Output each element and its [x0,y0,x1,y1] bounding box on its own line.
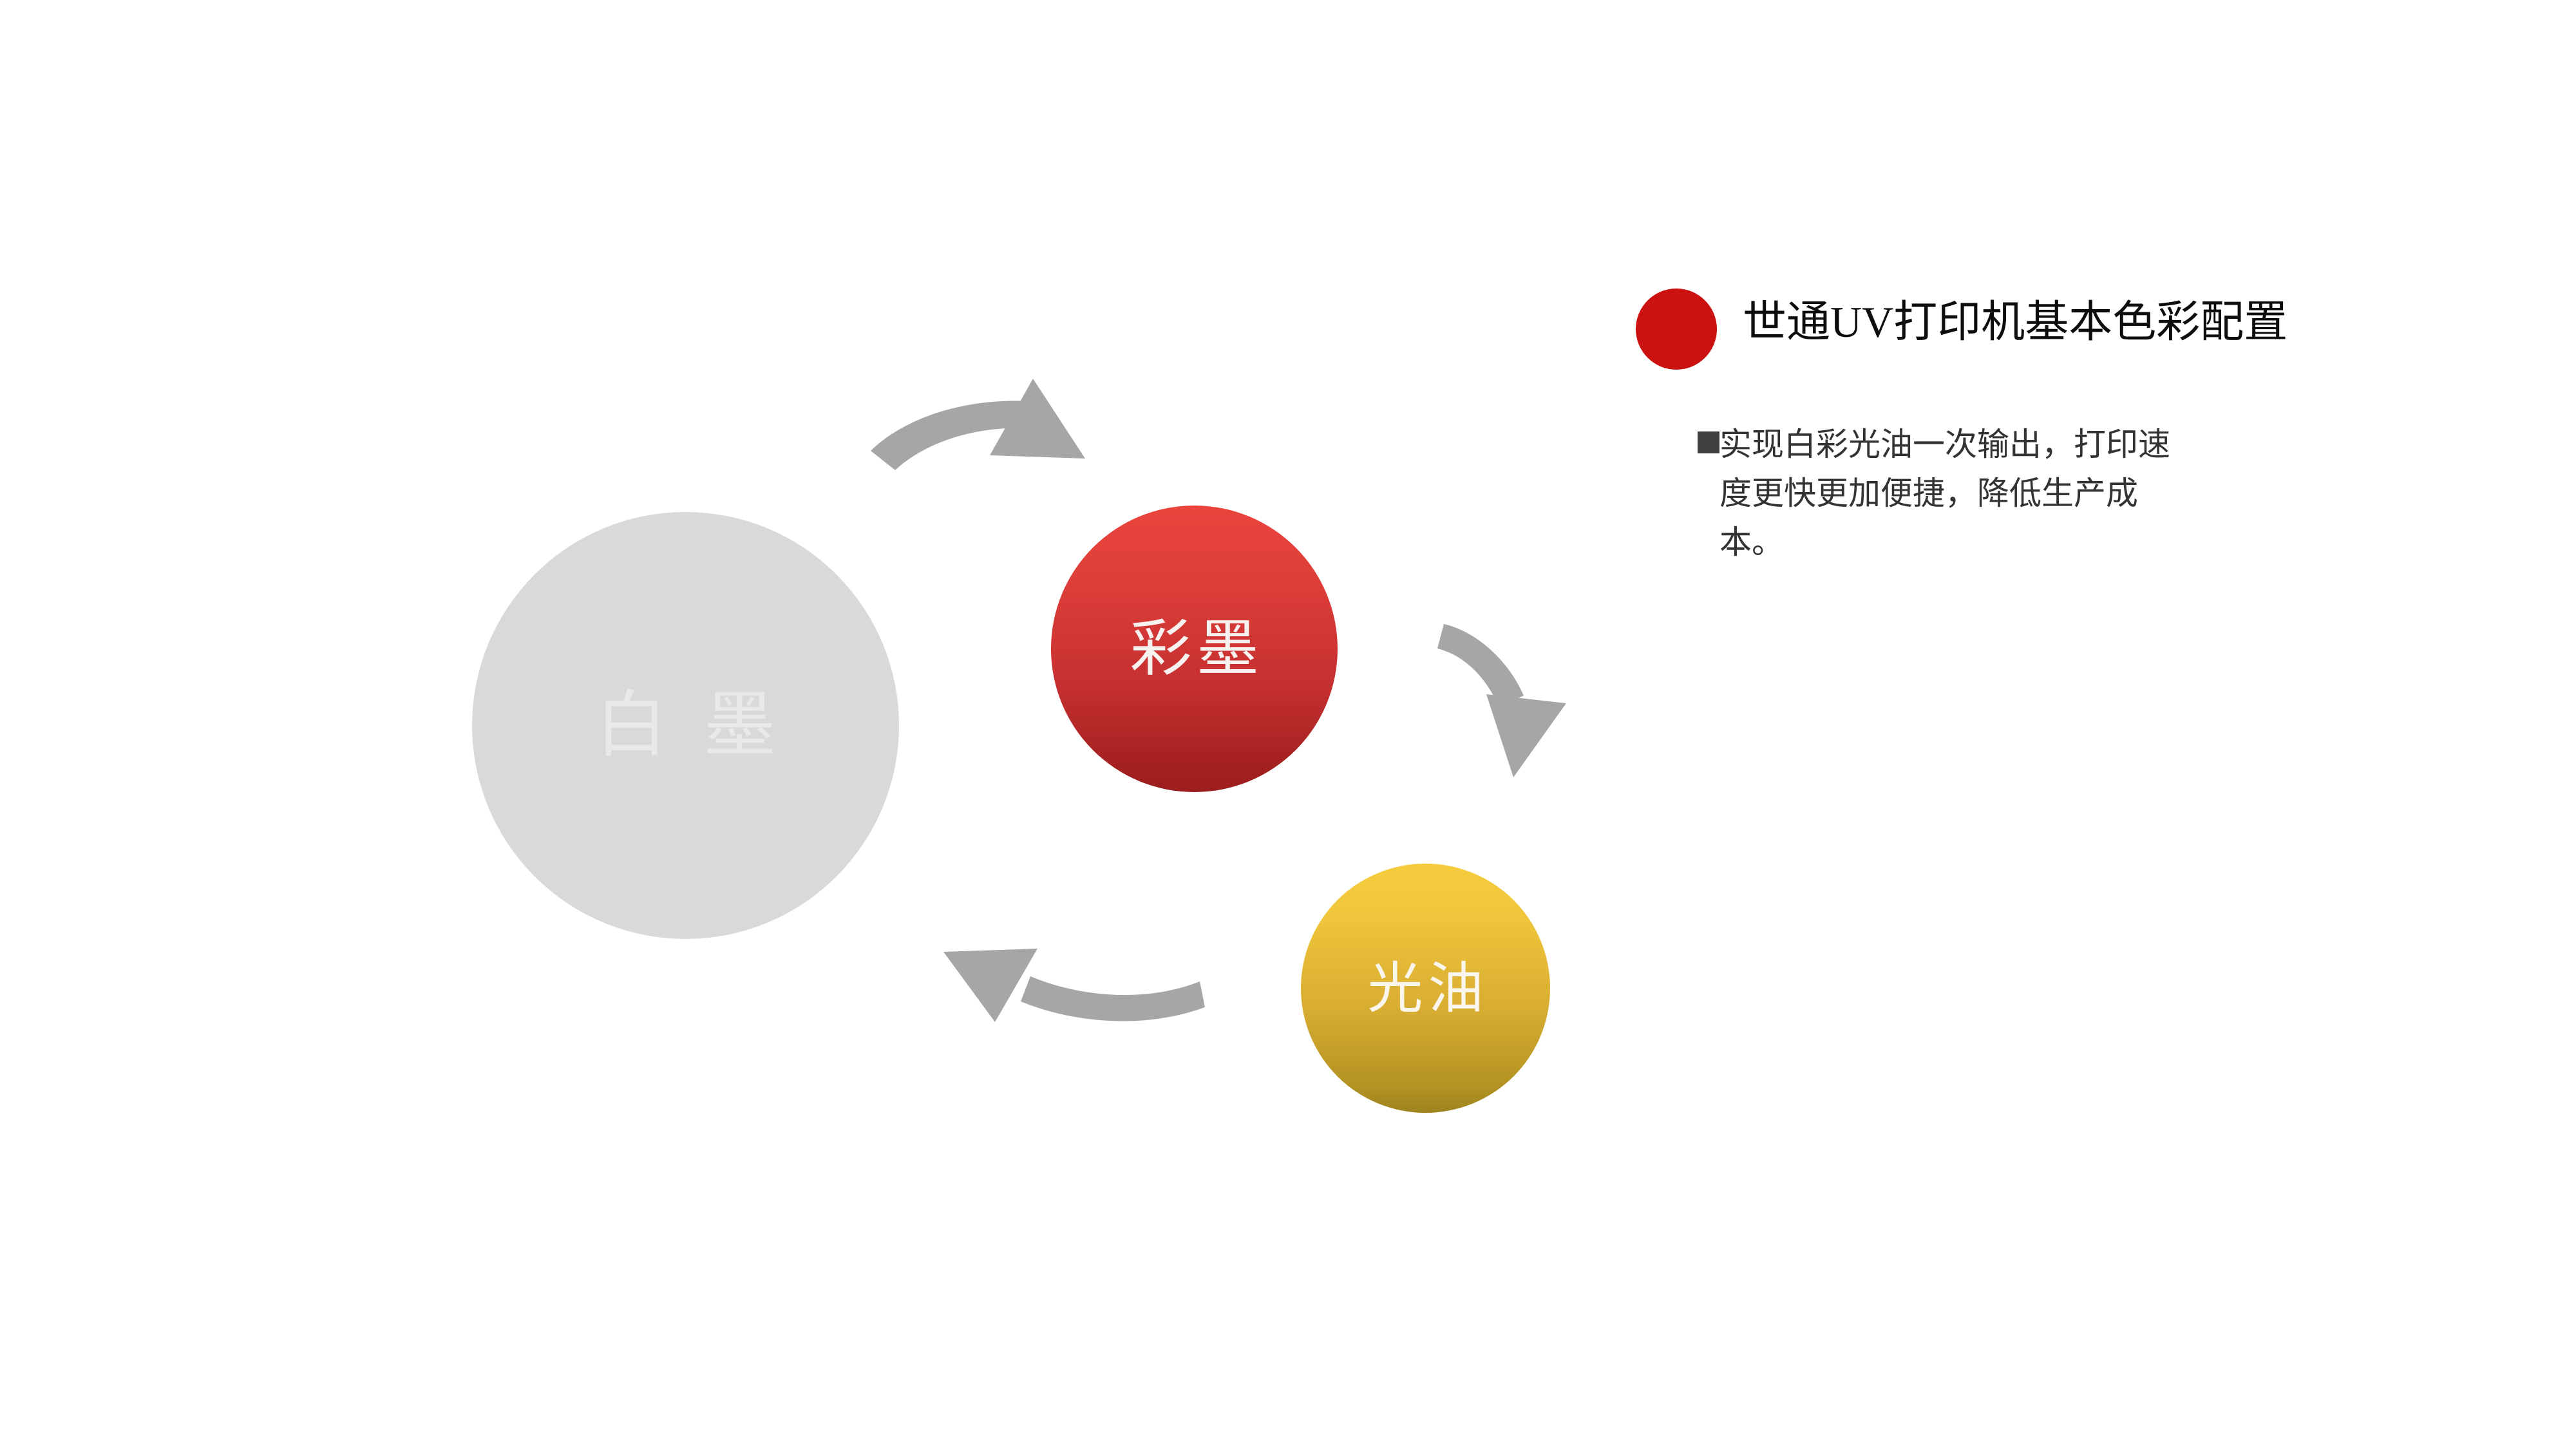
bullet-item-text: 实现白彩光油一次输出，打印速度更快更加便捷，降低生产成本。 [1719,420,2170,567]
slide-canvas: 白 墨 彩墨 光油 世通UV打印机基本色彩配置 实现白彩光油一次输出，打印速度更… [0,0,2576,1449]
node-varnish-label: 光油 [1363,961,1489,1016]
panel-heading: 世通UV打印机基本色彩配置 [1743,296,2287,349]
node-color-ink-label: 彩墨 [1125,618,1264,680]
square-bullet-icon [1698,431,1719,453]
node-white-ink-label: 白 墨 [587,690,785,762]
arrow-varnish-to-white-icon [924,927,1214,1037]
arrow-color-to-varnish-icon [1436,602,1597,795]
heading-row: 世通UV打印机基本色彩配置 [1636,283,2383,380]
node-white-ink[interactable]: 白 墨 [472,512,899,939]
bullet-list-item: 实现白彩光油一次输出，打印速度更快更加便捷，降低生产成本。 [1636,420,2383,567]
node-varnish[interactable]: 光油 [1301,864,1550,1113]
node-color-ink[interactable]: 彩墨 [1051,506,1338,792]
arrow-white-to-color-icon [857,370,1127,473]
text-panel: 世通UV打印机基本色彩配置 实现白彩光油一次输出，打印速度更快更加便捷，降低生产… [1636,283,2383,567]
red-dot-icon [1636,289,1717,370]
